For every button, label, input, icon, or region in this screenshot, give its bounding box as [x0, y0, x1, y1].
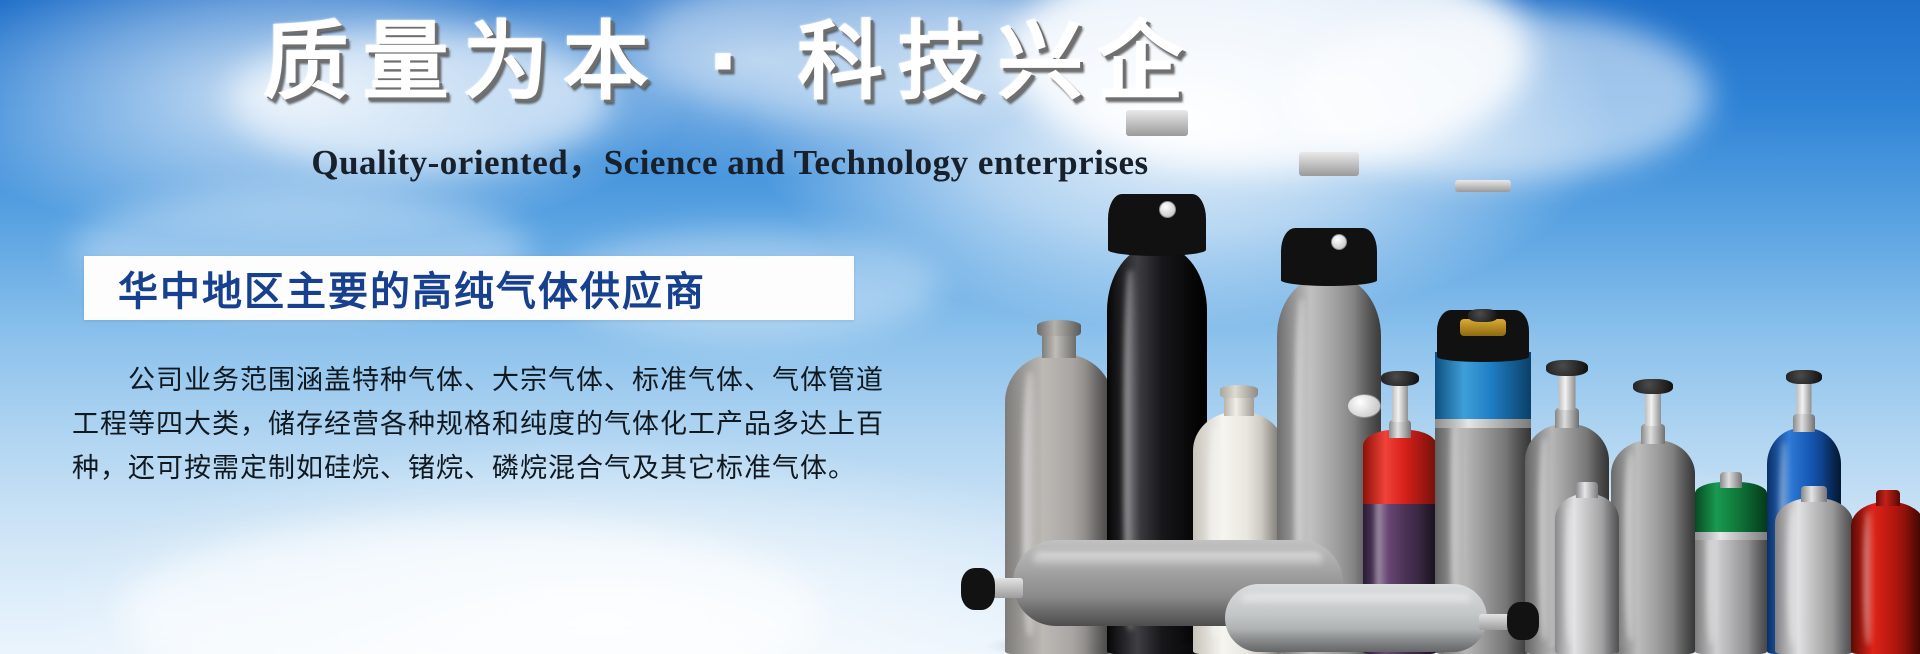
- cloud-shape: [120, 520, 820, 654]
- cylinder-green-top: [1695, 424, 1767, 654]
- cylinder-aluminium-slim: [1555, 476, 1619, 654]
- cylinder-horizontal-grey-valve: [961, 568, 995, 610]
- description-paragraph: 公司业务范围涵盖特种气体、大宗气体、标准气体、气体管道 工程等四大类，储存经营各…: [72, 358, 872, 490]
- cylinder-horizontal-light: [1225, 584, 1487, 652]
- cylinder-horizontal-light-valve: [1507, 602, 1539, 640]
- gas-cylinder-group: [935, 0, 1920, 654]
- promo-banner: 质量为本 · 科技兴企 Quality-oriented，Science and…: [0, 0, 1920, 654]
- cylinder-aluminium-wide: [1775, 478, 1853, 654]
- callout-box: 华中地区主要的高纯气体供应商: [84, 256, 854, 320]
- paragraph-line: 种，还可按需定制如硅烷、锗烷、磷烷混合气及其它标准气体。: [72, 446, 872, 490]
- callout-text: 华中地区主要的高纯气体供应商: [84, 259, 706, 317]
- cylinder-grey-tall-right: [1611, 362, 1695, 654]
- paragraph-line: 公司业务范围涵盖特种气体、大宗气体、标准气体、气体管道: [72, 358, 872, 402]
- cylinder-red-bottle-right: [1851, 482, 1920, 654]
- paragraph-line: 工程等四大类，储存经营各种规格和纯度的气体化工产品多达上百: [72, 402, 872, 446]
